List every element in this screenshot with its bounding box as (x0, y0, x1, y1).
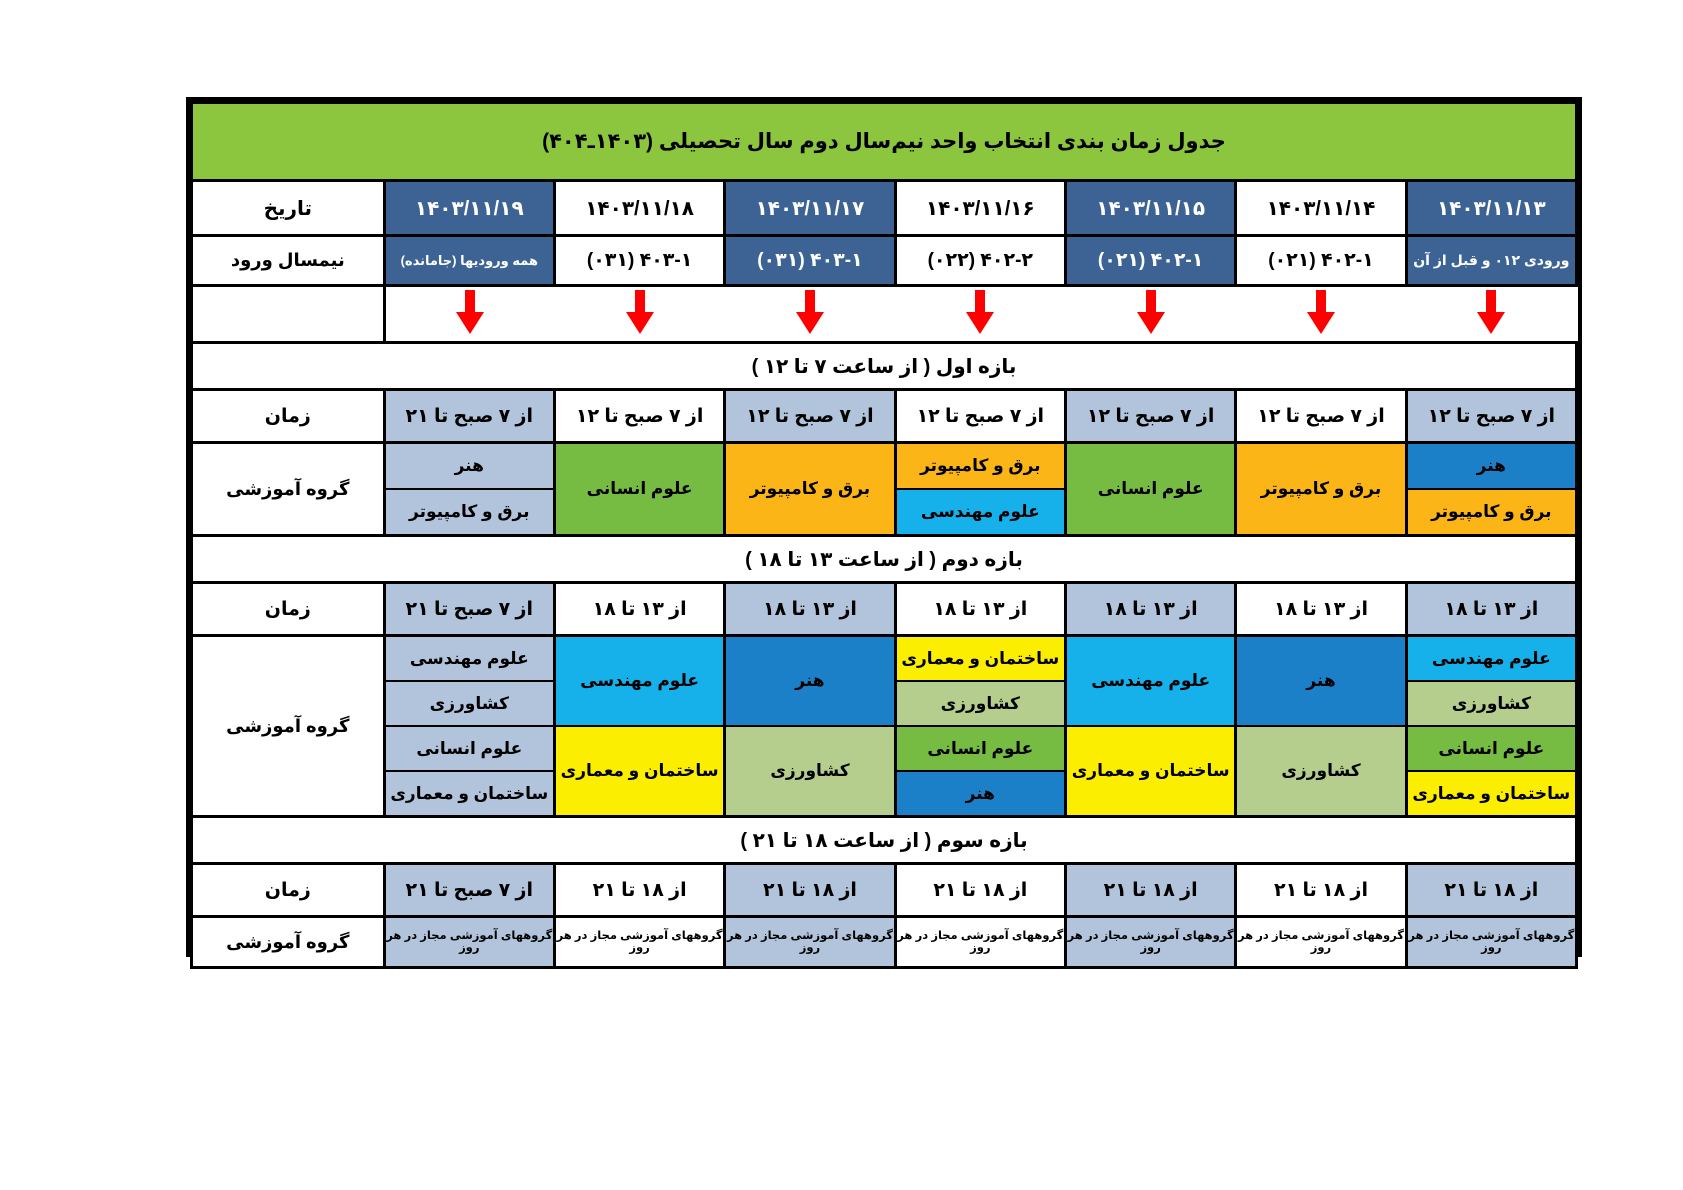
group-chip-band2-0-3: ساختمان و معماری (1408, 772, 1575, 815)
band-title-row-band1: بازه اول ( از ساعت ۷ تا ۱۲ ) (192, 343, 1577, 390)
row-label-time-band1: زمان (192, 390, 385, 443)
group-chip-band2-3-0: ساختمان و معماری (897, 637, 1064, 682)
group-chip-band2-3-3: هنر (897, 772, 1064, 815)
time-cell-band1-6: از ۷ صبح تا ۲۱ (384, 390, 554, 443)
band-title-band1: بازه اول ( از ساعت ۷ تا ۱۲ ) (192, 343, 1577, 390)
entry-semester-cell-4: ۴۰۳-۱ (۰۳۱) (725, 236, 895, 286)
group-chip-band2-6-1: کشاورزی (386, 682, 553, 727)
group-cell-band2-6: علوم مهندسیکشاورزیعلوم انسانیساختمان و م… (384, 636, 554, 817)
group-row-band1: هنربرق و کامپیوتربرق و کامپیوترعلوم انسا… (192, 443, 1577, 536)
time-cell-band1-3: از ۷ صبح تا ۱۲ (895, 390, 1065, 443)
group-cell-band1-5: علوم انسانی (554, 443, 724, 536)
time-row-band3: از ۱۸ تا ۲۱از ۱۸ تا ۲۱از ۱۸ تا ۲۱از ۱۸ ت… (192, 864, 1577, 917)
group-chip-band1-3-0: برق و کامپیوتر (897, 444, 1064, 490)
group-cell-band1-6: هنربرق و کامپیوتر (384, 443, 554, 536)
schedule-table-container: جدول زمان بندی انتخاب واحد نیم‌سال دوم س… (186, 97, 1582, 957)
date-cell-6: ۱۴۰۳/۱۱/۱۹ (384, 181, 554, 236)
group-chip-band3-6-0: گروههای آموزشی مجاز در هر روز (386, 918, 553, 966)
time-cell-band1-4: از ۷ صبح تا ۱۲ (725, 390, 895, 443)
down-arrow-icon (1304, 290, 1338, 334)
group-chip-band3-3-0: گروههای آموزشی مجاز در هر روز (897, 918, 1064, 966)
group-cell-band2-2: علوم مهندسیساختمان و معماری (1065, 636, 1235, 817)
date-cell-5: ۱۴۰۳/۱۱/۱۸ (554, 181, 724, 236)
time-cell-band2-4: از ۱۳ تا ۱۸ (725, 583, 895, 636)
arrow-cell-5 (554, 286, 724, 343)
group-cell-band1-4: برق و کامپیوتر (725, 443, 895, 536)
time-row-band1: از ۷ صبح تا ۱۲از ۷ صبح تا ۱۲از ۷ صبح تا … (192, 390, 1577, 443)
time-cell-band3-0: از ۱۸ تا ۲۱ (1406, 864, 1576, 917)
time-cell-band1-1: از ۷ صبح تا ۱۲ (1236, 390, 1406, 443)
time-cell-band1-5: از ۷ صبح تا ۱۲ (554, 390, 724, 443)
group-cell-band3-6: گروههای آموزشی مجاز در هر روز (384, 917, 554, 968)
arrow-cell-0 (1406, 286, 1576, 343)
group-cell-band2-3: ساختمان و معماریکشاورزیعلوم انسانیهنر (895, 636, 1065, 817)
entry-semester-row: ورودی ۰۱۲ و قبل از آن۴۰۲-۱ (۰۲۱)۴۰۲-۱ (۰… (192, 236, 1577, 286)
time-cell-band3-5: از ۱۸ تا ۲۱ (554, 864, 724, 917)
group-cell-band2-4: هنرکشاورزی (725, 636, 895, 817)
group-chip-band3-4-0: گروههای آموزشی مجاز در هر روز (726, 918, 893, 966)
time-cell-band1-2: از ۷ صبح تا ۱۲ (1065, 390, 1235, 443)
group-chip-band2-2-1: ساختمان و معماری (1067, 727, 1234, 815)
group-row-band2: علوم مهندسیکشاورزیعلوم انسانیساختمان و م… (192, 636, 1577, 817)
page-title: جدول زمان بندی انتخاب واحد نیم‌سال دوم س… (192, 103, 1577, 181)
group-chip-band2-6-2: علوم انسانی (386, 727, 553, 772)
time-cell-band3-6: از ۷ صبح تا ۲۱ (384, 864, 554, 917)
row-label-time-band2: زمان (192, 583, 385, 636)
date-row: ۱۴۰۳/۱۱/۱۳۱۴۰۳/۱۱/۱۴۱۴۰۳/۱۱/۱۵۱۴۰۳/۱۱/۱۶… (192, 181, 1577, 236)
group-row-band3: گروههای آموزشی مجاز در هر روزگروههای آمو… (192, 917, 1577, 968)
group-chip-band1-6-1: برق و کامپیوتر (386, 490, 553, 534)
group-chip-band1-0-0: هنر (1408, 444, 1575, 490)
arrow-row-spacer (192, 286, 385, 343)
date-cell-1: ۱۴۰۳/۱۱/۱۴ (1236, 181, 1406, 236)
group-chip-band2-5-0: علوم مهندسی (556, 637, 723, 727)
registration-schedule-table: جدول زمان بندی انتخاب واحد نیم‌سال دوم س… (190, 101, 1578, 969)
time-row-band2: از ۱۳ تا ۱۸از ۱۳ تا ۱۸از ۱۳ تا ۱۸از ۱۳ ت… (192, 583, 1577, 636)
group-chip-band2-3-1: کشاورزی (897, 682, 1064, 727)
arrow-cell-4 (725, 286, 895, 343)
group-chip-band1-4-0: برق و کامپیوتر (726, 444, 893, 534)
group-chip-band2-2-0: علوم مهندسی (1067, 637, 1234, 727)
group-chip-band1-2-0: علوم انسانی (1067, 444, 1234, 534)
group-chip-band2-4-0: هنر (726, 637, 893, 727)
group-cell-band1-0: هنربرق و کامپیوتر (1406, 443, 1576, 536)
group-cell-band3-1: گروههای آموزشی مجاز در هر روز (1236, 917, 1406, 968)
arrow-cell-2 (1065, 286, 1235, 343)
entry-semester-cell-3: ۴۰۲-۲ (۰۲۲) (895, 236, 1065, 286)
time-cell-band2-0: از ۱۳ تا ۱۸ (1406, 583, 1576, 636)
group-chip-band3-1-0: گروههای آموزشی مجاز در هر روز (1237, 918, 1404, 966)
entry-semester-cell-0: ورودی ۰۱۲ و قبل از آن (1406, 236, 1576, 286)
group-chip-band3-5-0: گروههای آموزشی مجاز در هر روز (556, 918, 723, 966)
group-chip-band2-1-1: کشاورزی (1237, 727, 1404, 815)
row-label-group-b1: گروه آموزشی (192, 443, 385, 536)
arrow-cell-3 (895, 286, 1065, 343)
arrow-row (192, 286, 1577, 343)
date-cell-4: ۱۴۰۳/۱۱/۱۷ (725, 181, 895, 236)
group-cell-band1-1: برق و کامپیوتر (1236, 443, 1406, 536)
entry-semester-cell-6: همه ورودیها (جامانده) (384, 236, 554, 286)
group-chip-band1-0-1: برق و کامپیوتر (1408, 490, 1575, 534)
group-chip-band1-3-1: علوم مهندسی (897, 490, 1064, 534)
band-title-row-band2: بازه دوم ( از ساعت ۱۳ تا ۱۸ ) (192, 536, 1577, 583)
time-cell-band2-3: از ۱۳ تا ۱۸ (895, 583, 1065, 636)
group-chip-band2-0-0: علوم مهندسی (1408, 637, 1575, 682)
group-chip-band1-6-0: هنر (386, 444, 553, 490)
group-cell-band3-0: گروههای آموزشی مجاز در هر روز (1406, 917, 1576, 968)
group-cell-band2-0: علوم مهندسیکشاورزیعلوم انسانیساختمان و م… (1406, 636, 1576, 817)
group-chip-band1-1-0: برق و کامپیوتر (1237, 444, 1404, 534)
time-cell-band2-1: از ۱۳ تا ۱۸ (1236, 583, 1406, 636)
row-label-date: تاریخ (192, 181, 385, 236)
group-chip-band3-2-0: گروههای آموزشی مجاز در هر روز (1067, 918, 1234, 966)
down-arrow-icon (963, 290, 997, 334)
group-cell-band3-2: گروههای آموزشی مجاز در هر روز (1065, 917, 1235, 968)
time-cell-band3-2: از ۱۸ تا ۲۱ (1065, 864, 1235, 917)
group-chip-band3-0-0: گروههای آموزشی مجاز در هر روز (1408, 918, 1575, 966)
band-title-row-band3: بازه سوم ( از ساعت ۱۸ تا ۲۱ ) (192, 817, 1577, 864)
date-cell-2: ۱۴۰۳/۱۱/۱۵ (1065, 181, 1235, 236)
group-chip-band2-1-0: هنر (1237, 637, 1404, 727)
time-cell-band3-3: از ۱۸ تا ۲۱ (895, 864, 1065, 917)
band-title-band3: بازه سوم ( از ساعت ۱۸ تا ۲۱ ) (192, 817, 1577, 864)
group-chip-band2-0-1: کشاورزی (1408, 682, 1575, 727)
group-cell-band2-1: هنرکشاورزی (1236, 636, 1406, 817)
schedule-sheet: جدول زمان بندی انتخاب واحد نیم‌سال دوم س… (0, 0, 1683, 1190)
entry-semester-cell-5: ۴۰۳-۱ (۰۳۱) (554, 236, 724, 286)
down-arrow-icon (453, 290, 487, 334)
group-chip-band2-0-2: علوم انسانی (1408, 727, 1575, 772)
time-cell-band2-6: از ۷ صبح تا ۲۱ (384, 583, 554, 636)
arrow-cell-6 (384, 286, 554, 343)
group-chip-band2-3-2: علوم انسانی (897, 727, 1064, 772)
down-arrow-icon (1134, 290, 1168, 334)
time-cell-band2-2: از ۱۳ تا ۱۸ (1065, 583, 1235, 636)
group-chip-band1-5-0: علوم انسانی (556, 444, 723, 534)
down-arrow-icon (1474, 290, 1508, 334)
group-cell-band2-5: علوم مهندسیساختمان و معماری (554, 636, 724, 817)
date-cell-0: ۱۴۰۳/۱۱/۱۳ (1406, 181, 1576, 236)
group-cell-band1-2: علوم انسانی (1065, 443, 1235, 536)
time-cell-band3-1: از ۱۸ تا ۲۱ (1236, 864, 1406, 917)
group-chip-band2-6-3: ساختمان و معماری (386, 772, 553, 815)
entry-semester-cell-1: ۴۰۲-۱ (۰۲۱) (1236, 236, 1406, 286)
row-label-time-band3: زمان (192, 864, 385, 917)
down-arrow-icon (793, 290, 827, 334)
group-cell-band1-3: برق و کامپیوترعلوم مهندسی (895, 443, 1065, 536)
down-arrow-icon (623, 290, 657, 334)
row-label-group-b3: گروه آموزشی (192, 917, 385, 968)
group-cell-band3-5: گروههای آموزشی مجاز در هر روز (554, 917, 724, 968)
time-cell-band3-4: از ۱۸ تا ۲۱ (725, 864, 895, 917)
group-cell-band3-3: گروههای آموزشی مجاز در هر روز (895, 917, 1065, 968)
group-chip-band2-5-1: ساختمان و معماری (556, 727, 723, 815)
entry-semester-cell-2: ۴۰۲-۱ (۰۲۱) (1065, 236, 1235, 286)
row-label-group-b2: گروه آموزشی (192, 636, 385, 817)
arrow-cell-1 (1236, 286, 1406, 343)
time-cell-band1-0: از ۷ صبح تا ۱۲ (1406, 390, 1576, 443)
time-cell-band2-5: از ۱۳ تا ۱۸ (554, 583, 724, 636)
group-cell-band3-4: گروههای آموزشی مجاز در هر روز (725, 917, 895, 968)
group-chip-band2-4-1: کشاورزی (726, 727, 893, 815)
row-label-entry-semester: نیمسال ورود (192, 236, 385, 286)
date-cell-3: ۱۴۰۳/۱۱/۱۶ (895, 181, 1065, 236)
band-title-band2: بازه دوم ( از ساعت ۱۳ تا ۱۸ ) (192, 536, 1577, 583)
group-chip-band2-6-0: علوم مهندسی (386, 637, 553, 682)
